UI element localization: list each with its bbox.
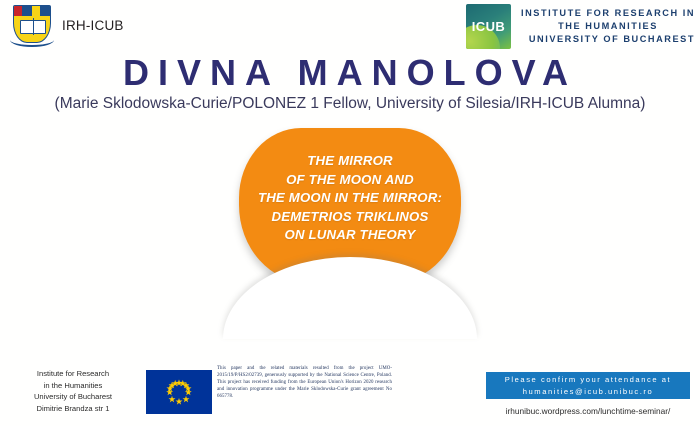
institution-address: Institute for Research in the Humanities… bbox=[12, 368, 134, 414]
icub-logo-text: ICUB bbox=[466, 18, 511, 33]
irh-logo-group: IRH-ICUB bbox=[10, 3, 124, 47]
contact-email[interactable]: humanities@icub.unibuc.ro bbox=[523, 386, 653, 398]
lecture-title-badge: THE MIRROR OF THE MOON AND THE MOON IN T… bbox=[239, 128, 461, 283]
seminar-website-link[interactable]: irhunibuc.wordpress.com/lunchtime-semina… bbox=[486, 406, 690, 416]
institution-line-2: in the Humanities bbox=[12, 380, 134, 392]
european-union-flag-icon bbox=[146, 370, 212, 414]
funding-acknowledgement: This paper and the related materials res… bbox=[217, 366, 392, 401]
attendance-contact-box[interactable]: Please confirm your attendance at humani… bbox=[486, 372, 690, 399]
icub-name-line-1: INSTITUTE FOR RESEARCH IN bbox=[521, 7, 695, 20]
icub-institute-name: INSTITUTE FOR RESEARCH IN THE HUMANITIES… bbox=[521, 7, 695, 46]
icub-logo-group: ICUB INSTITUTE FOR RESEARCH IN THE HUMAN… bbox=[466, 4, 695, 49]
icub-square-logo-icon: ICUB bbox=[466, 4, 511, 49]
icub-name-line-3: UNIVERSITY OF BUCHAREST bbox=[521, 33, 695, 46]
speaker-name: DIVNA MANOLOVA bbox=[0, 52, 700, 94]
irh-crest-icon bbox=[10, 3, 54, 47]
institution-line-4: Dimitrie Brandza str 1 bbox=[12, 403, 134, 415]
irh-label: IRH-ICUB bbox=[62, 18, 124, 33]
lecture-title: THE MIRROR OF THE MOON AND THE MOON IN T… bbox=[239, 152, 461, 245]
contact-prompt: Please confirm your attendance at bbox=[505, 374, 671, 386]
institution-line-3: University of Bucharest bbox=[12, 391, 134, 403]
poster-header: IRH-ICUB ICUB INSTITUTE FOR RESEARCH IN … bbox=[0, 0, 700, 52]
badge-notch-shape bbox=[223, 257, 477, 339]
institution-line-1: Institute for Research bbox=[12, 368, 134, 380]
lecture-title-line-5: ON LUNAR THEORY bbox=[239, 226, 461, 245]
seminar-poster: IRH-ICUB ICUB INSTITUTE FOR RESEARCH IN … bbox=[0, 0, 700, 426]
speaker-affiliation: (Marie Sklodowska-Curie/POLONEZ 1 Fellow… bbox=[0, 95, 700, 113]
lecture-title-line-2: OF THE MOON AND bbox=[239, 171, 461, 190]
lecture-title-line-1: THE MIRROR bbox=[239, 152, 461, 171]
icub-name-line-2: THE HUMANITIES bbox=[521, 20, 695, 33]
lecture-title-line-4: DEMETRIOS TRIKLINOS bbox=[239, 208, 461, 227]
lecture-title-line-3: THE MOON IN THE MIRROR: bbox=[239, 189, 461, 208]
